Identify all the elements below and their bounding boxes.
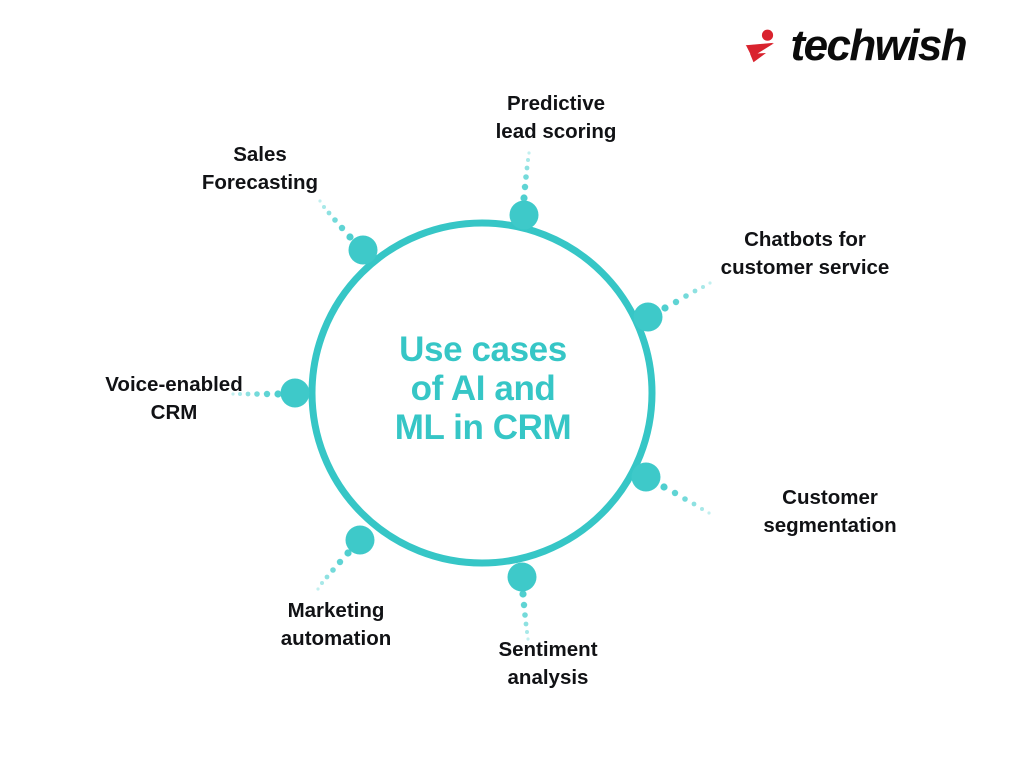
node-label-line-2: automation xyxy=(234,625,438,653)
node-label-customer-segmentation: Customer segmentation xyxy=(736,484,924,541)
connector-customer-segmentation xyxy=(660,483,710,514)
connector-chatbots-for-customer-service xyxy=(661,281,711,311)
connector-sales-forecasting xyxy=(318,199,353,240)
node-label-line-1: Voice-enabled xyxy=(84,371,264,399)
center-title-line-1: Use cases xyxy=(352,330,614,369)
node-label-line-2: customer service xyxy=(700,254,910,282)
node-label-chatbots-for-customer-service: Chatbots for customer service xyxy=(700,226,910,283)
connector-predictive-lead-scoring xyxy=(520,151,530,201)
node-label-line-2: Forecasting xyxy=(174,169,346,197)
node-dot-marketing-automation[interactable] xyxy=(346,526,375,555)
node-dot-voice-enabled-crm[interactable] xyxy=(281,379,310,408)
node-label-sales-forecasting: Sales Forecasting xyxy=(174,141,346,198)
node-label-line-2: analysis xyxy=(456,664,640,692)
node-label-line-2: segmentation xyxy=(736,512,924,540)
node-label-predictive-lead-scoring: Predictive lead scoring xyxy=(466,90,646,147)
node-dot-customer-segmentation[interactable] xyxy=(632,463,661,492)
node-label-line-1: Chatbots for xyxy=(700,226,910,254)
node-label-voice-enabled-crm: Voice-enabled CRM xyxy=(84,371,264,428)
node-label-sentiment-analysis: Sentiment analysis xyxy=(456,636,640,693)
node-label-marketing-automation: Marketing automation xyxy=(234,597,438,654)
center-title-line-2: of AI and xyxy=(352,369,614,408)
node-dot-predictive-lead-scoring[interactable] xyxy=(510,201,539,230)
node-dot-sales-forecasting[interactable] xyxy=(349,236,378,265)
node-dot-chatbots-for-customer-service[interactable] xyxy=(634,303,663,332)
node-label-line-2: CRM xyxy=(84,399,264,427)
node-label-line-1: Predictive xyxy=(466,90,646,118)
connector-marketing-automation xyxy=(316,549,351,590)
node-label-line-1: Customer xyxy=(736,484,924,512)
node-label-line-2: lead scoring xyxy=(466,118,646,146)
node-label-line-1: Marketing xyxy=(234,597,438,625)
center-title-line-3: ML in CRM xyxy=(352,408,614,447)
infographic-canvas: techwish xyxy=(0,0,1024,778)
node-label-line-1: Sentiment xyxy=(456,636,640,664)
node-label-line-1: Sales xyxy=(174,141,346,169)
node-dot-sentiment-analysis[interactable] xyxy=(508,563,537,592)
center-title: Use cases of AI and ML in CRM xyxy=(352,330,614,448)
connector-sentiment-analysis xyxy=(519,590,529,640)
